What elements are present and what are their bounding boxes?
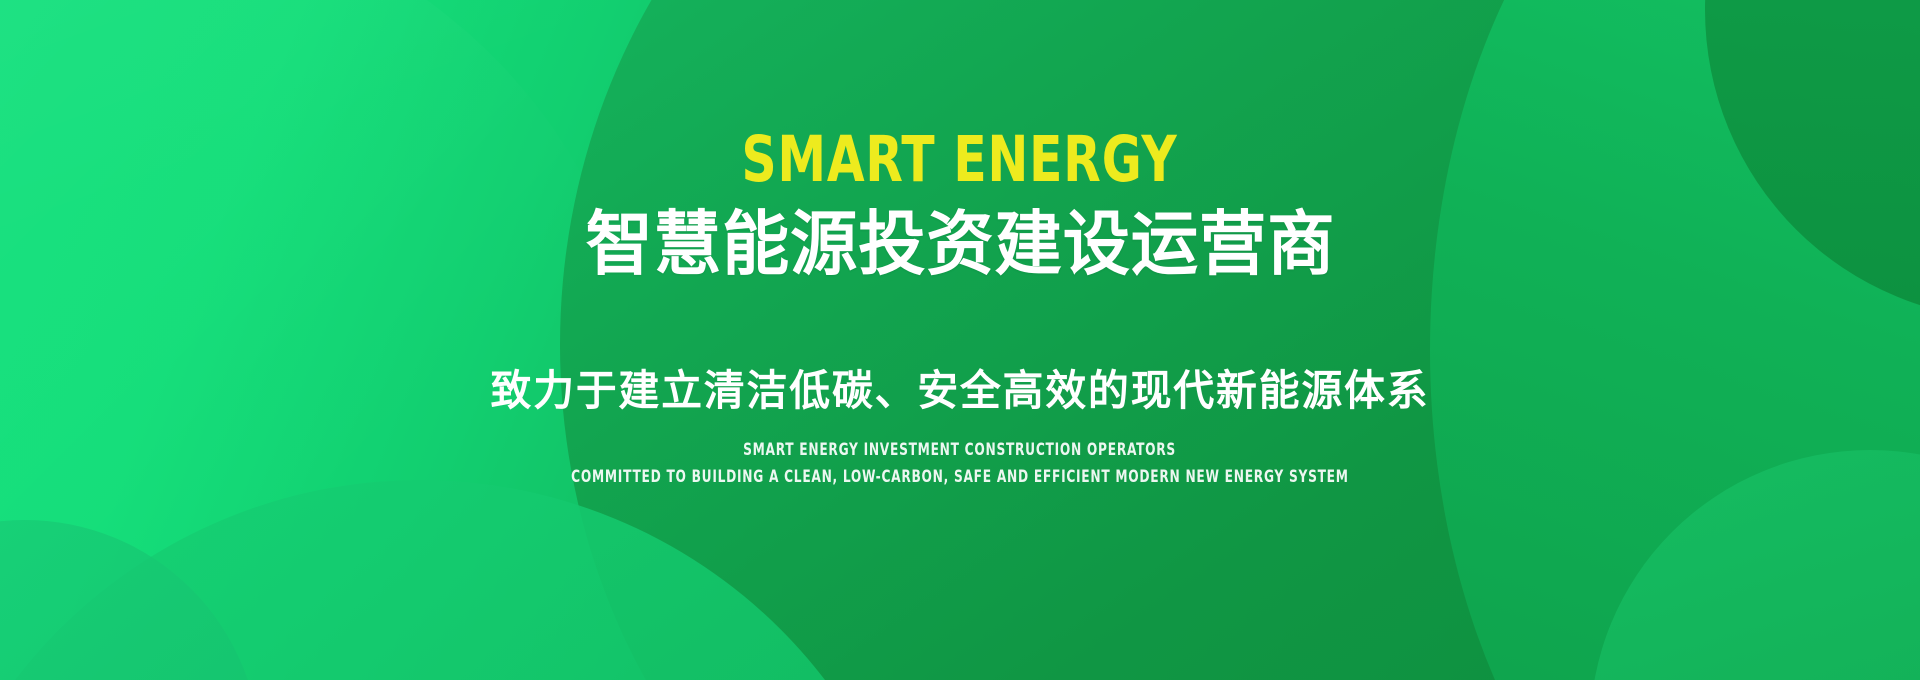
banner-subheadline: 致力于建立清洁低碳、安全高效的现代新能源体系 — [491, 368, 1430, 414]
hero-banner: SMART ENERGY 智慧能源投资建设运营商 致力于建立清洁低碳、安全高效的… — [0, 0, 1920, 680]
banner-content: SMART ENERGY 智慧能源投资建设运营商 致力于建立清洁低碳、安全高效的… — [0, 0, 1920, 680]
banner-english-subtitles: SMART ENERGY INVESTMENT CONSTRUCTION OPE… — [474, 440, 1446, 488]
banner-english-line-2: COMMITTED TO BUILDING A CLEAN, LOW-CARBO… — [571, 467, 1348, 488]
banner-eyebrow-title: SMART ENERGY — [742, 128, 1178, 191]
banner-headline: 智慧能源投资建设运营商 — [585, 207, 1335, 281]
banner-english-line-1: SMART ENERGY INVESTMENT CONSTRUCTION OPE… — [744, 440, 1177, 461]
